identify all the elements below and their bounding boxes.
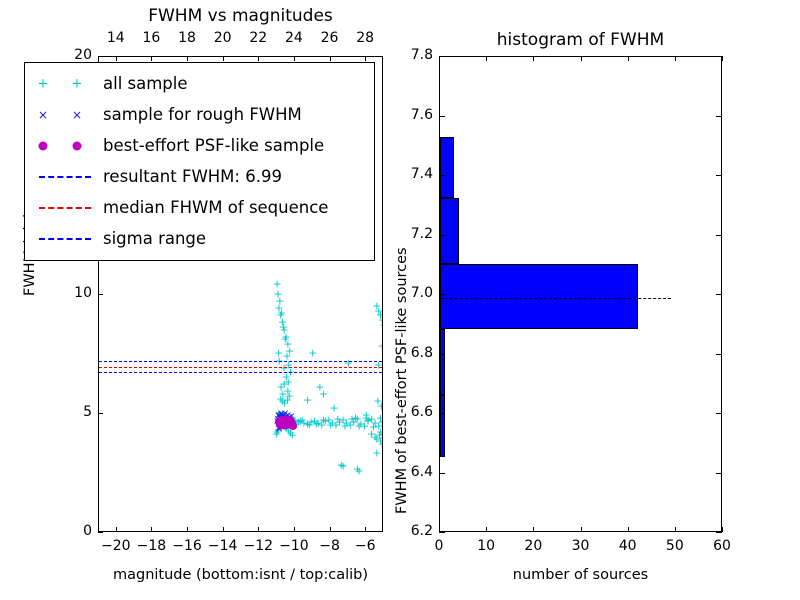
scatter-point-rough-sample: × — [286, 416, 294, 426]
left-plot-xtick-bottom: −6 — [349, 538, 381, 554]
scatter-point-rough-sample: × — [275, 425, 283, 435]
scatter-point-all-sample: + — [381, 324, 383, 335]
right-plot-ytick-mark-right — [716, 116, 722, 117]
left-plot-xtick-bottom-mark — [116, 527, 117, 532]
left-plot-xtick-top: 20 — [211, 30, 235, 46]
legend-handle: ×× — [29, 99, 103, 130]
scatter-point-all-sample: + — [275, 296, 284, 307]
right-plot-ytick-mark — [439, 294, 445, 295]
right-plot-ytick-mark — [439, 532, 445, 533]
scatter-point-all-sample: + — [285, 391, 294, 402]
scatter-point-psf-sample — [287, 420, 295, 428]
right-plot-ytick: 6.2 — [391, 523, 433, 539]
scatter-point-all-sample: + — [281, 334, 290, 345]
scatter-point-psf-sample — [285, 417, 293, 425]
scatter-point-all-sample: + — [372, 434, 381, 445]
scatter-point-psf-sample — [282, 420, 290, 428]
left-plot-xtick-top: 22 — [246, 30, 270, 46]
scatter-point-all-sample: + — [324, 415, 333, 426]
right-plot-xtick: 20 — [517, 538, 549, 554]
left-plot-ytick-mark — [98, 413, 103, 414]
right-plot-xtick-mark-top — [486, 56, 487, 61]
scatter-point-psf-sample — [278, 416, 286, 424]
scatter-point-all-sample: + — [349, 416, 358, 427]
scatter-point-all-sample: + — [378, 417, 383, 428]
scatter-point-all-sample: + — [280, 379, 289, 390]
left-plot-xtick-top: 26 — [318, 30, 342, 46]
right-plot-xtick-mark — [533, 527, 534, 532]
scatter-point-all-sample: + — [283, 338, 292, 349]
scatter-point-all-sample: + — [285, 417, 294, 428]
left-plot-xtick-bottom-mark — [151, 527, 152, 532]
scatter-point-all-sample: + — [346, 420, 355, 431]
histogram-bar — [440, 137, 454, 198]
scatter-point-all-sample: + — [378, 438, 383, 449]
scatter-point-psf-sample — [276, 421, 284, 429]
scatter-point-all-sample: + — [310, 415, 319, 426]
right-plot-xtick-mark — [675, 527, 676, 532]
legend-item-label: best-effort PSF-like sample — [103, 136, 324, 155]
scatter-point-all-sample: + — [282, 372, 291, 383]
scatter-point-psf-sample — [286, 418, 294, 426]
scatter-point-all-sample: + — [372, 448, 381, 459]
scatter-point-all-sample: + — [319, 388, 328, 399]
scatter-point-all-sample: + — [281, 422, 290, 433]
scatter-point-rough-sample: × — [280, 411, 288, 421]
legend-item[interactable]: best-effort PSF-like sample — [29, 130, 368, 161]
scatter-point-all-sample: + — [328, 417, 337, 428]
legend-handle — [29, 161, 103, 192]
scatter-point-all-sample: + — [315, 381, 324, 392]
scatter-point-rough-sample: × — [282, 422, 290, 432]
scatter-point-all-sample: + — [308, 348, 317, 359]
legend-handle — [29, 130, 103, 161]
scatter-point-all-sample: + — [288, 430, 297, 441]
left-plot-xtick-top: 14 — [104, 30, 128, 46]
scatter-point-rough-sample: × — [282, 419, 290, 429]
scatter-point-psf-sample — [282, 420, 290, 428]
right-plot-ytick: 7.2 — [391, 226, 433, 242]
left-plot-xtick-bottom-mark — [223, 527, 224, 532]
scatter-point-all-sample: + — [367, 429, 376, 440]
scatter-point-all-sample: + — [379, 429, 383, 440]
scatter-point-all-sample: + — [274, 303, 283, 314]
scatter-point-all-sample: + — [278, 317, 287, 328]
scatter-point-all-sample: + — [321, 416, 330, 427]
scatter-point-rough-sample: × — [277, 410, 285, 420]
left-plot-ytick: 20 — [56, 47, 92, 63]
scatter-point-rough-sample: × — [283, 416, 291, 426]
plot-legend: ++all sample××sample for rough FWHMbest-… — [24, 62, 375, 261]
right-plot-xtick-mark-top — [628, 56, 629, 61]
scatter-point-all-sample: + — [280, 324, 289, 335]
right-plot-xtick-mark-top — [675, 56, 676, 61]
scatter-point-psf-sample — [277, 417, 285, 425]
scatter-point-all-sample: + — [276, 381, 285, 392]
scatter-point-psf-sample — [284, 418, 292, 426]
scatter-point-psf-sample — [285, 419, 293, 427]
cross-icon: × — [38, 109, 48, 121]
left-plot-xtick-top-mark — [258, 56, 259, 61]
legend-item-label: all sample — [103, 74, 188, 93]
right-plot-ytick: 7.4 — [391, 166, 433, 182]
scatter-point-rough-sample: × — [279, 421, 287, 431]
scatter-point-rough-sample: × — [274, 424, 282, 434]
scatter-point-psf-sample — [289, 422, 297, 430]
histogram-bar — [440, 395, 445, 457]
scatter-point-all-sample: + — [283, 394, 292, 405]
histogram-bar — [440, 264, 638, 329]
scatter-point-rough-sample: × — [280, 420, 288, 430]
scatter-point-all-sample: + — [279, 420, 288, 431]
legend-handle — [29, 192, 103, 223]
right-plot-xtick: 0 — [423, 538, 455, 554]
right-plot-xtick-mark-top — [722, 56, 723, 61]
scatter-point-psf-sample — [280, 420, 288, 428]
scatter-point-all-sample: + — [354, 421, 363, 432]
scatter-point-rough-sample: × — [273, 415, 281, 425]
scatter-point-all-sample: + — [353, 463, 362, 474]
scatter-point-all-sample: + — [373, 395, 382, 406]
cross-icon: × — [72, 109, 82, 121]
left-plot-ytick-mark — [98, 294, 103, 295]
left-plot-hline-median-fhwm-of-sequence — [99, 367, 382, 368]
left-plot-xtick-bottom: −10 — [278, 538, 310, 554]
right-plot-ytick-mark-right — [716, 56, 722, 57]
left-plot-title: FWHM vs magnitudes — [98, 6, 383, 26]
left-plot-hline-sigma-range-lower — [99, 372, 382, 373]
scatter-point-psf-sample — [280, 420, 288, 428]
scatter-point-all-sample: + — [376, 436, 383, 447]
scatter-point-psf-sample — [277, 418, 285, 426]
scatter-point-rough-sample: × — [274, 415, 282, 425]
scatter-point-psf-sample — [281, 418, 289, 426]
left-plot-ytick-mark — [98, 56, 103, 57]
scatter-point-rough-sample: × — [284, 417, 292, 427]
scatter-point-psf-sample — [278, 418, 286, 426]
scatter-point-psf-sample — [286, 419, 294, 427]
left-plot-xtick-bottom: −14 — [207, 538, 239, 554]
scatter-point-psf-sample — [283, 418, 291, 426]
right-plot-xtick: 10 — [470, 538, 502, 554]
scatter-point-all-sample: + — [279, 322, 288, 333]
scatter-point-all-sample: + — [306, 416, 315, 427]
legend-item-label: median FHWM of sequence — [103, 198, 328, 217]
scatter-point-all-sample: + — [337, 460, 346, 471]
right-plot-ytick: 7.8 — [391, 47, 433, 63]
scatter-point-psf-sample — [288, 419, 296, 427]
right-plot-xlabel: number of sources — [439, 567, 722, 583]
right-plot-xtick: 50 — [659, 538, 691, 554]
scatter-point-all-sample: + — [372, 300, 381, 311]
right-plot-ytick: 7.6 — [391, 107, 433, 123]
scatter-point-all-sample: + — [283, 412, 292, 423]
scatter-point-all-sample: + — [283, 386, 292, 397]
scatter-point-all-sample: + — [347, 413, 356, 424]
scatter-point-all-sample: + — [282, 350, 291, 361]
scatter-point-all-sample: + — [338, 414, 347, 425]
left-plot-xtick-top-mark — [187, 56, 188, 61]
scatter-point-all-sample: + — [284, 425, 293, 436]
circle-icon — [39, 141, 48, 150]
scatter-point-all-sample: + — [294, 417, 303, 428]
scatter-point-all-sample: + — [338, 461, 347, 472]
figure-canvas: ++++++++++++++++++++++++++++++++++++++++… — [0, 0, 800, 600]
circle-icon — [73, 141, 82, 150]
scatter-point-psf-sample — [276, 418, 284, 426]
scatter-point-all-sample: + — [378, 315, 383, 326]
scatter-point-all-sample: + — [275, 419, 284, 430]
scatter-point-all-sample: + — [303, 419, 312, 430]
legend-handle — [29, 223, 103, 254]
scatter-point-all-sample: + — [356, 418, 365, 429]
right-plot-ytick-mark-right — [716, 473, 722, 474]
left-plot-xtick-top-mark — [116, 56, 117, 61]
scatter-point-all-sample: + — [281, 331, 290, 342]
right-plot-ytick-mark — [439, 235, 445, 236]
scatter-point-all-sample: + — [351, 412, 360, 423]
right-plot-xtick-mark — [628, 527, 629, 532]
right-plot-ytick-mark — [439, 175, 445, 176]
left-plot-xtick-bottom-mark — [365, 527, 366, 532]
right-plot-ytick-mark — [439, 413, 445, 414]
scatter-point-psf-sample — [284, 419, 292, 427]
scatter-point-psf-sample — [288, 421, 296, 429]
histogram-bar — [440, 329, 445, 394]
right-plot-ytick-mark-right — [716, 235, 722, 236]
scatter-point-psf-sample — [280, 417, 288, 425]
scatter-point-all-sample: + — [278, 388, 287, 399]
scatter-point-psf-sample — [286, 417, 294, 425]
scatter-point-all-sample: + — [369, 421, 378, 432]
dashed-line-icon — [39, 207, 91, 209]
scatter-point-all-sample: + — [374, 421, 383, 432]
scatter-point-all-sample: + — [287, 413, 296, 424]
scatter-point-psf-sample — [276, 419, 284, 427]
legend-item[interactable]: sigma range — [29, 223, 368, 254]
scatter-point-all-sample: + — [292, 418, 301, 429]
plus-icon: + — [38, 77, 49, 90]
scatter-point-all-sample: + — [280, 411, 289, 422]
right-plot-xtick: 40 — [612, 538, 644, 554]
scatter-point-all-sample: + — [276, 310, 285, 321]
legend-item[interactable]: median FHWM of sequence — [29, 192, 368, 223]
scatter-point-psf-sample — [285, 419, 293, 427]
scatter-point-all-sample: + — [319, 414, 328, 425]
scatter-point-all-sample: + — [305, 419, 314, 430]
scatter-point-psf-sample — [275, 418, 283, 426]
legend-item-label: sigma range — [103, 229, 206, 248]
left-plot-xtick-bottom: −18 — [135, 538, 167, 554]
scatter-point-all-sample: + — [284, 376, 293, 387]
scatter-point-rough-sample: × — [282, 412, 290, 422]
left-plot-ytick: 0 — [56, 523, 92, 539]
scatter-point-rough-sample: × — [283, 418, 291, 428]
scatter-point-rough-sample: × — [275, 411, 283, 421]
scatter-point-all-sample: + — [273, 279, 282, 290]
left-plot-xtick-bottom: −20 — [100, 538, 132, 554]
scatter-point-all-sample: + — [296, 416, 305, 427]
scatter-point-all-sample: + — [277, 418, 286, 429]
scatter-point-all-sample: + — [274, 407, 283, 418]
scatter-point-rough-sample: × — [276, 414, 284, 424]
right-plot-title: histogram of FWHM — [439, 30, 722, 50]
scatter-point-psf-sample — [277, 418, 285, 426]
right-plot-xtick-mark-top — [533, 56, 534, 61]
left-plot-xtick-top: 18 — [175, 30, 199, 46]
scatter-point-rough-sample: × — [278, 413, 286, 423]
scatter-point-all-sample: + — [376, 310, 383, 321]
scatter-point-rough-sample: × — [278, 414, 286, 424]
scatter-point-psf-sample — [287, 418, 295, 426]
scatter-point-rough-sample: × — [273, 417, 281, 427]
scatter-point-psf-sample — [287, 420, 295, 428]
legend-item[interactable]: resultant FWHM: 6.99 — [29, 161, 368, 192]
right-plot-xtick-mark-top — [581, 56, 582, 61]
scatter-point-rough-sample: × — [276, 413, 284, 423]
scatter-point-all-sample: + — [360, 420, 369, 431]
left-plot-xtick-bottom: −8 — [314, 538, 346, 554]
right-plot-xtick: 30 — [565, 538, 597, 554]
scatter-point-all-sample: + — [363, 415, 372, 426]
scatter-point-all-sample: + — [375, 430, 383, 441]
scatter-point-psf-sample — [281, 417, 289, 425]
right-plot-ytick-mark — [439, 56, 445, 57]
left-plot-hline-sigma-range-upper — [99, 361, 382, 362]
histogram-bar — [440, 198, 459, 263]
scatter-point-all-sample: + — [378, 341, 383, 352]
left-plot-xlabel: magnitude (bottom:isnt / top:calib) — [98, 567, 383, 583]
scatter-point-psf-sample — [283, 421, 291, 429]
scatter-point-all-sample: + — [379, 319, 383, 330]
scatter-point-psf-sample — [279, 420, 287, 428]
left-plot-ytick: 5 — [56, 404, 92, 420]
left-plot-xtick-bottom-mark — [258, 527, 259, 532]
scatter-point-all-sample: + — [290, 415, 299, 426]
scatter-point-all-sample: + — [276, 393, 285, 404]
scatter-point-rough-sample: × — [285, 413, 293, 423]
scatter-point-rough-sample: × — [285, 419, 293, 429]
scatter-point-psf-sample — [281, 419, 289, 427]
scatter-point-all-sample: + — [381, 441, 383, 452]
legend-item-label: sample for rough FWHM — [103, 105, 302, 124]
scatter-point-rough-sample: × — [278, 423, 286, 433]
scatter-point-all-sample: + — [354, 466, 363, 477]
left-plot-xtick-bottom-mark — [294, 527, 295, 532]
scatter-point-rough-sample: × — [286, 417, 294, 427]
scatter-point-all-sample: + — [282, 423, 291, 434]
scatter-point-all-sample: + — [326, 420, 335, 431]
dashdot-line-icon — [39, 238, 91, 240]
legend-item[interactable]: ××sample for rough FWHM — [29, 99, 368, 130]
legend-item[interactable]: ++all sample — [29, 68, 368, 99]
scatter-point-all-sample: + — [285, 346, 294, 357]
scatter-point-psf-sample — [279, 418, 287, 426]
scatter-point-all-sample: + — [381, 326, 383, 337]
scatter-point-all-sample: + — [333, 414, 342, 425]
dashed-line-icon — [39, 176, 91, 178]
right-plot-ytick-mark-right — [716, 175, 722, 176]
scatter-point-rough-sample: × — [284, 411, 292, 421]
scatter-point-all-sample: + — [379, 432, 383, 443]
scatter-point-all-sample: + — [371, 417, 380, 428]
right-plot-ytick-mark — [439, 354, 445, 355]
scatter-point-rough-sample: × — [279, 415, 287, 425]
scatter-point-psf-sample — [283, 418, 291, 426]
scatter-point-all-sample: + — [330, 403, 339, 414]
scatter-point-all-sample: + — [335, 417, 344, 428]
scatter-point-rough-sample: × — [288, 419, 296, 429]
scatter-point-all-sample: + — [289, 415, 298, 426]
left-plot-xtick-bottom-mark — [187, 527, 188, 532]
scatter-point-all-sample: + — [362, 413, 371, 424]
left-plot-xtick-top: 28 — [353, 30, 377, 46]
scatter-point-all-sample: + — [363, 416, 372, 427]
scatter-point-all-sample: + — [273, 424, 282, 435]
left-plot-ytick: 10 — [56, 285, 92, 301]
scatter-point-psf-sample — [285, 416, 293, 424]
left-plot-xtick-top-mark — [365, 56, 366, 61]
right-plot-axes — [439, 56, 722, 532]
left-plot-xtick-bottom: −12 — [242, 538, 274, 554]
scatter-point-psf-sample — [283, 419, 291, 427]
scatter-point-rough-sample: × — [287, 419, 295, 429]
scatter-point-all-sample: + — [362, 410, 371, 421]
scatter-point-all-sample: + — [312, 419, 321, 430]
scatter-point-psf-sample — [281, 416, 289, 424]
scatter-point-all-sample: + — [278, 395, 287, 406]
right-plot-ytick-mark-right — [716, 294, 722, 295]
scatter-point-rough-sample: × — [275, 412, 283, 422]
scatter-point-all-sample: + — [314, 418, 323, 429]
left-plot-xtick-bottom-mark — [330, 527, 331, 532]
scatter-point-all-sample: + — [278, 410, 287, 421]
scatter-point-all-sample: + — [342, 418, 351, 429]
scatter-point-all-sample: + — [273, 426, 282, 437]
left-plot-xtick-top: 24 — [282, 30, 306, 46]
scatter-point-rough-sample: × — [287, 412, 295, 422]
scatter-point-all-sample: + — [376, 426, 383, 437]
scatter-point-all-sample: + — [353, 414, 362, 425]
left-plot-ytick-mark — [98, 532, 103, 533]
scatter-point-rough-sample: × — [283, 420, 291, 430]
scatter-point-all-sample: + — [297, 415, 306, 426]
scatter-point-all-sample: + — [340, 420, 349, 431]
left-plot-xtick-top-mark — [151, 56, 152, 61]
scatter-point-rough-sample: × — [277, 422, 285, 432]
scatter-point-all-sample: + — [376, 412, 383, 423]
right-plot-xtick-mark — [722, 527, 723, 532]
scatter-point-rough-sample: × — [280, 423, 288, 433]
right-plot-xtick-mark — [581, 527, 582, 532]
scatter-point-all-sample: + — [381, 413, 383, 424]
scatter-point-psf-sample — [287, 419, 295, 427]
scatter-point-all-sample: + — [377, 400, 383, 411]
plus-icon: + — [72, 77, 83, 90]
scatter-point-all-sample: + — [317, 419, 326, 430]
legend-handle: ++ — [29, 68, 103, 99]
right-plot-ytick-mark — [439, 473, 445, 474]
scatter-point-all-sample: + — [299, 417, 308, 428]
scatter-point-all-sample: + — [371, 431, 380, 442]
scatter-point-all-sample: + — [303, 394, 312, 405]
scatter-point-all-sample: + — [274, 348, 283, 359]
scatter-point-psf-sample — [279, 417, 287, 425]
left-plot-xtick-top-mark — [294, 56, 295, 61]
scatter-point-rough-sample: × — [289, 421, 297, 431]
scatter-point-rough-sample: × — [277, 410, 285, 420]
scatter-point-rough-sample: × — [280, 415, 288, 425]
